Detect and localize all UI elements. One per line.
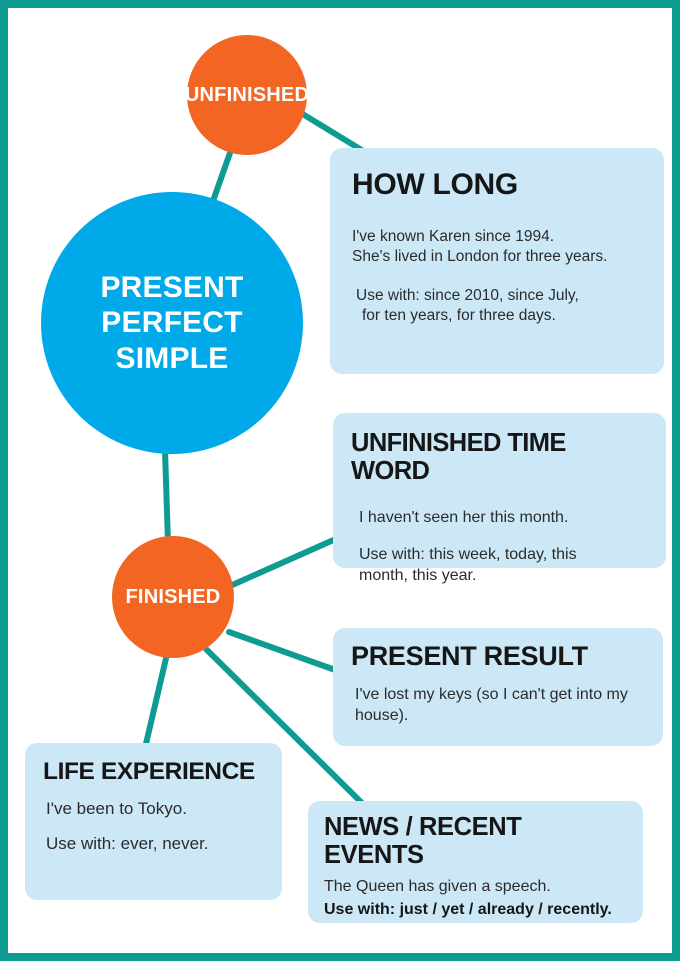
card-present-result-title: PRESENT RESULT [351,642,645,672]
card-how-long-usewith-line1: Use with: since 2010, since July, [356,286,642,306]
connector-finished-to-lifeexperience [145,654,167,748]
node-finished-label: FINISHED [126,586,221,609]
node-unfinished-label: UNFINISHED [185,84,309,107]
card-how-long-examples: I've known Karen since 1994. She's lived… [352,227,642,268]
card-unfinished-time-word-usewith-line2: month, this year. [359,565,648,586]
card-life-experience-example-1: I've been to Tokyo. [46,798,264,820]
connector-finished-to-unfinishedtime [230,538,338,586]
node-unfinished[interactable]: UNFINISHED [187,35,307,155]
connector-finished-to-presentresult [229,632,338,671]
card-present-result-example-line2: house). [355,705,645,726]
card-how-long-usewith: Use with: since 2010, since July, for te… [352,286,642,327]
card-how-long-example-1: I've known Karen since 1994. [352,227,642,247]
card-unfinished-time-word-usewith-line1: Use with: this week, today, this [359,544,648,565]
card-how-long-example-2: She's lived in London for three years. [352,247,642,267]
card-life-experience-title: LIFE EXPERIENCE [43,759,264,786]
card-news-recent-events-usewith: Use with: just / yet / already / recentl… [324,898,627,921]
card-how-long[interactable]: HOW LONG I've known Karen since 1994. Sh… [330,148,664,374]
node-present-perfect-simple[interactable]: PRESENT PERFECT SIMPLE [41,192,303,454]
card-unfinished-time-word-body: I haven't seen her this month. Use with:… [351,507,648,586]
card-unfinished-time-word-example-1: I haven't seen her this month. [359,507,648,528]
node-main-label: PRESENT PERFECT SIMPLE [41,270,303,376]
card-life-experience-usewith: Use with: ever, never. [46,833,264,855]
card-news-recent-events-body: The Queen has given a speech. Use with: … [324,875,627,921]
card-life-experience-body: I've been to Tokyo. Use with: ever, neve… [43,798,264,856]
connector-main-to-finished [165,450,168,543]
card-life-experience[interactable]: LIFE EXPERIENCE I've been to Tokyo. Use … [25,743,282,900]
card-present-result[interactable]: PRESENT RESULT I've lost my keys (so I c… [333,628,663,746]
node-finished[interactable]: FINISHED [112,536,234,658]
card-present-result-body: I've lost my keys (so I can't get into m… [351,684,645,726]
card-news-recent-events[interactable]: NEWS / RECENT EVENTS The Queen has given… [308,801,643,923]
card-news-recent-events-example-1: The Queen has given a speech. [324,875,627,898]
card-how-long-usewith-line2: for ten years, for three days. [356,306,642,326]
card-how-long-title: HOW LONG [352,168,642,201]
card-unfinished-time-word-title: UNFINISHED TIME WORD [351,429,648,485]
card-unfinished-time-word[interactable]: UNFINISHED TIME WORD I haven't seen her … [333,413,666,568]
node-main-label-line1: PRESENT [41,270,303,305]
card-news-recent-events-title: NEWS / RECENT EVENTS [324,813,627,869]
infographic-poster: UNFINISHED PRESENT PERFECT SIMPLE FINISH… [0,0,680,961]
card-present-result-example-line1: I've lost my keys (so I can't get into m… [355,684,645,705]
node-main-label-line2: PERFECT SIMPLE [41,305,303,376]
